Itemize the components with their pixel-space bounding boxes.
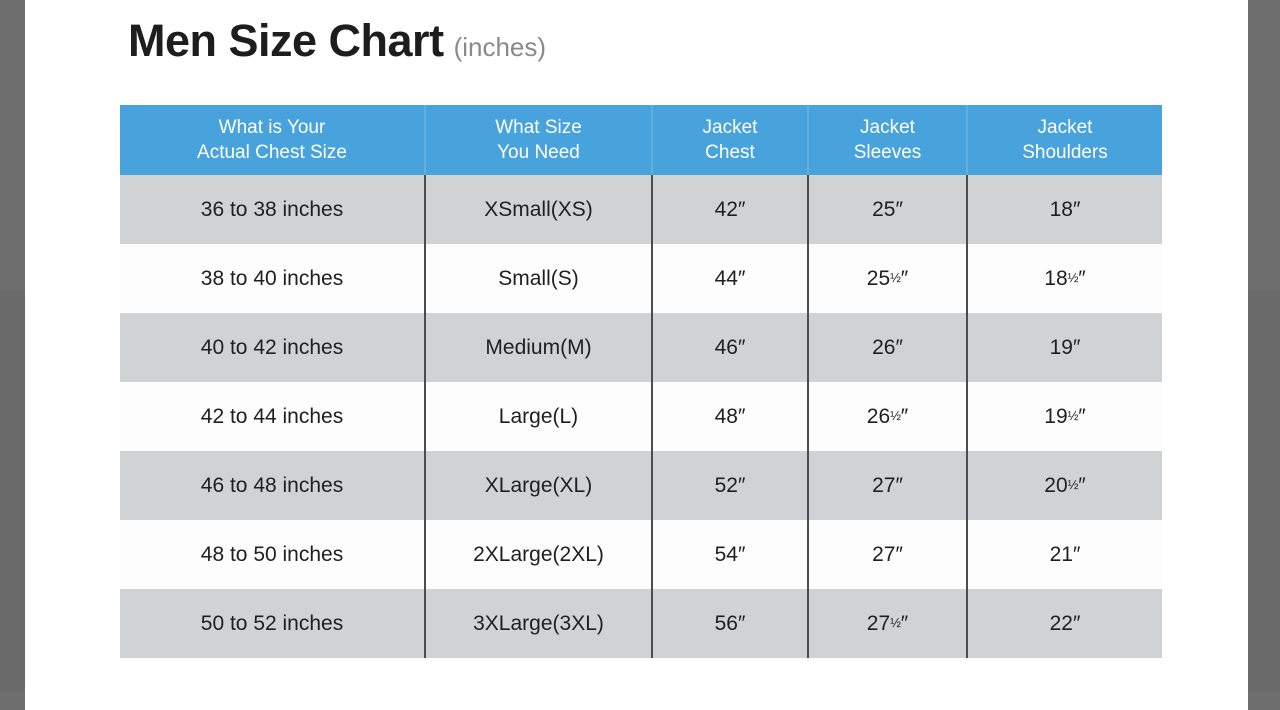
cell-chest-size: 42 to 44 inches xyxy=(120,382,425,451)
cell-jacket-chest: 48″ xyxy=(652,382,808,451)
table-row: 42 to 44 inches Large(L) 48″ 26½″ 19½″ xyxy=(120,382,1162,451)
cell-size-needed: Large(L) xyxy=(425,382,652,451)
cell-jacket-sleeves: 25½″ xyxy=(808,244,967,313)
column-header-line2: You Need xyxy=(430,140,647,165)
cell-chest-size: 38 to 40 inches xyxy=(120,244,425,313)
table-row: 36 to 38 inches XSmall(XS) 42″ 25″ 18″ xyxy=(120,175,1162,244)
cell-size-needed: XLarge(XL) xyxy=(425,451,652,520)
table-row: 40 to 42 inches Medium(M) 46″ 26″ 19″ xyxy=(120,313,1162,382)
cell-chest-size: 48 to 50 inches xyxy=(120,520,425,589)
cell-jacket-sleeves: 26½″ xyxy=(808,382,967,451)
cell-jacket-shoulders: 21″ xyxy=(967,520,1162,589)
column-header-line2: Chest xyxy=(657,140,803,165)
column-header-size-you-need: What Size You Need xyxy=(425,105,652,175)
table-row: 38 to 40 inches Small(S) 44″ 25½″ 18½″ xyxy=(120,244,1162,313)
cell-jacket-sleeves: 27½″ xyxy=(808,589,967,658)
table-row: 46 to 48 inches XLarge(XL) 52″ 27″ 20½″ xyxy=(120,451,1162,520)
table-row: 50 to 52 inches 3XLarge(3XL) 56″ 27½″ 22… xyxy=(120,589,1162,658)
table-row: 48 to 50 inches 2XLarge(2XL) 54″ 27″ 21″ xyxy=(120,520,1162,589)
column-header-line2: Sleeves xyxy=(813,140,962,165)
cell-size-needed: XSmall(XS) xyxy=(425,175,652,244)
cell-size-needed: Small(S) xyxy=(425,244,652,313)
cell-jacket-chest: 56″ xyxy=(652,589,808,658)
right-frame-band xyxy=(1248,290,1280,690)
cell-size-needed: Medium(M) xyxy=(425,313,652,382)
page-title: Men Size Chart (inches) xyxy=(128,18,546,63)
right-frame-bar xyxy=(1248,0,1280,710)
cell-jacket-chest: 52″ xyxy=(652,451,808,520)
left-frame-band xyxy=(0,290,25,690)
column-header-line2: Actual Chest Size xyxy=(124,140,420,165)
cell-chest-size: 46 to 48 inches xyxy=(120,451,425,520)
cell-chest-size: 36 to 38 inches xyxy=(120,175,425,244)
table-header: What is Your Actual Chest Size What Size… xyxy=(120,105,1162,175)
cell-jacket-shoulders: 18″ xyxy=(967,175,1162,244)
column-header-line1: What Size xyxy=(430,115,647,140)
page-title-unit: (inches) xyxy=(454,34,546,60)
table-header-row: What is Your Actual Chest Size What Size… xyxy=(120,105,1162,175)
column-header-line2: Shoulders xyxy=(972,140,1158,165)
cell-size-needed: 2XLarge(2XL) xyxy=(425,520,652,589)
cell-jacket-shoulders: 19″ xyxy=(967,313,1162,382)
column-header-jacket-chest: Jacket Chest xyxy=(652,105,808,175)
cell-jacket-chest: 42″ xyxy=(652,175,808,244)
cell-size-needed: 3XLarge(3XL) xyxy=(425,589,652,658)
cell-jacket-sleeves: 26″ xyxy=(808,313,967,382)
cell-jacket-shoulders: 18½″ xyxy=(967,244,1162,313)
table-body: 36 to 38 inches XSmall(XS) 42″ 25″ 18″ 3… xyxy=(120,175,1162,658)
cell-jacket-chest: 44″ xyxy=(652,244,808,313)
cell-chest-size: 40 to 42 inches xyxy=(120,313,425,382)
cell-jacket-shoulders: 22″ xyxy=(967,589,1162,658)
column-header-line1: Jacket xyxy=(972,115,1158,140)
cell-jacket-sleeves: 27″ xyxy=(808,451,967,520)
cell-chest-size: 50 to 52 inches xyxy=(120,589,425,658)
cell-jacket-shoulders: 20½″ xyxy=(967,451,1162,520)
chart-canvas: Men Size Chart (inches) What is Your Act… xyxy=(25,0,1248,710)
cell-jacket-chest: 46″ xyxy=(652,313,808,382)
column-header-jacket-shoulders: Jacket Shoulders xyxy=(967,105,1162,175)
page-title-main: Men Size Chart xyxy=(128,18,444,63)
column-header-actual-chest-size: What is Your Actual Chest Size xyxy=(120,105,425,175)
column-header-jacket-sleeves: Jacket Sleeves xyxy=(808,105,967,175)
column-header-line1: Jacket xyxy=(657,115,803,140)
cell-jacket-chest: 54″ xyxy=(652,520,808,589)
column-header-line1: Jacket xyxy=(813,115,962,140)
cell-jacket-sleeves: 25″ xyxy=(808,175,967,244)
size-chart-table: What is Your Actual Chest Size What Size… xyxy=(120,105,1162,658)
left-frame-bar xyxy=(0,0,25,710)
cell-jacket-sleeves: 27″ xyxy=(808,520,967,589)
column-header-line1: What is Your xyxy=(124,115,420,140)
cell-jacket-shoulders: 19½″ xyxy=(967,382,1162,451)
